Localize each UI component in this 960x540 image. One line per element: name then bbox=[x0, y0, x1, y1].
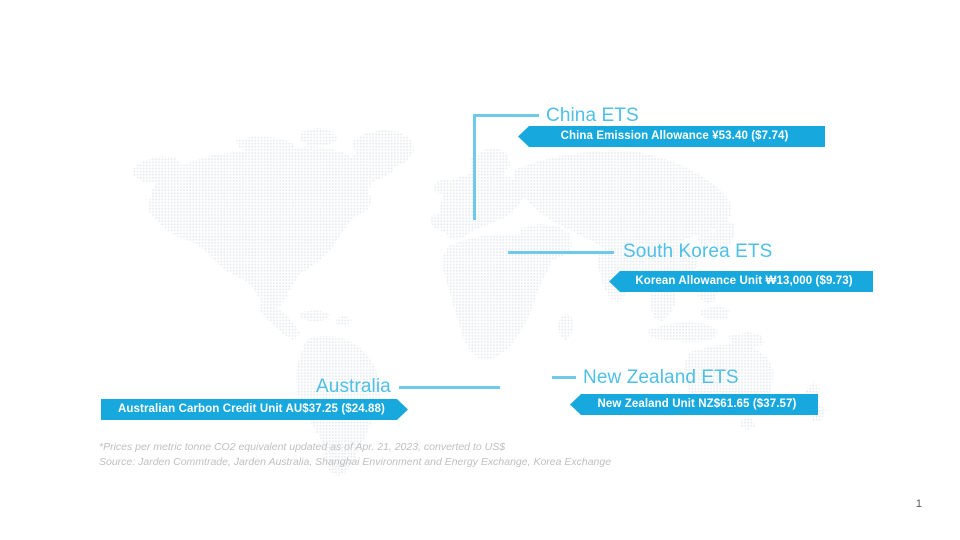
leader-line-australia bbox=[399, 386, 500, 389]
price-banner-china: China Emission Allowance ¥53.40 ($7.74) bbox=[518, 126, 825, 147]
region-title-new-zealand: New Zealand ETS bbox=[583, 368, 739, 387]
footnote-source: Source: Jarden Commtrade, Jarden Austral… bbox=[99, 456, 611, 468]
leader-line-china-horizontal bbox=[473, 114, 539, 117]
price-banner-australia: Australian Carbon Credit Unit AU$37.25 (… bbox=[101, 399, 408, 420]
leader-line-china-vertical bbox=[473, 115, 476, 220]
region-title-china: China ETS bbox=[546, 106, 639, 125]
region-title-australia: Australia bbox=[316, 377, 391, 396]
price-banner-south-korea: Korean Allowance Unit ₩13,000 ($9.73) bbox=[609, 271, 873, 292]
leader-line-south-korea bbox=[508, 251, 614, 254]
leader-line-new-zealand bbox=[552, 376, 576, 379]
page-number: 1 bbox=[916, 498, 922, 510]
price-banner-new-zealand: New Zealand Unit NZ$61.65 ($37.57) bbox=[570, 394, 818, 415]
region-title-south-korea: South Korea ETS bbox=[623, 242, 772, 261]
footnote-prices: *Prices per metric tonne CO2 equivalent … bbox=[99, 441, 505, 453]
slide-canvas: China ETS China Emission Allowance ¥53.4… bbox=[0, 0, 960, 540]
